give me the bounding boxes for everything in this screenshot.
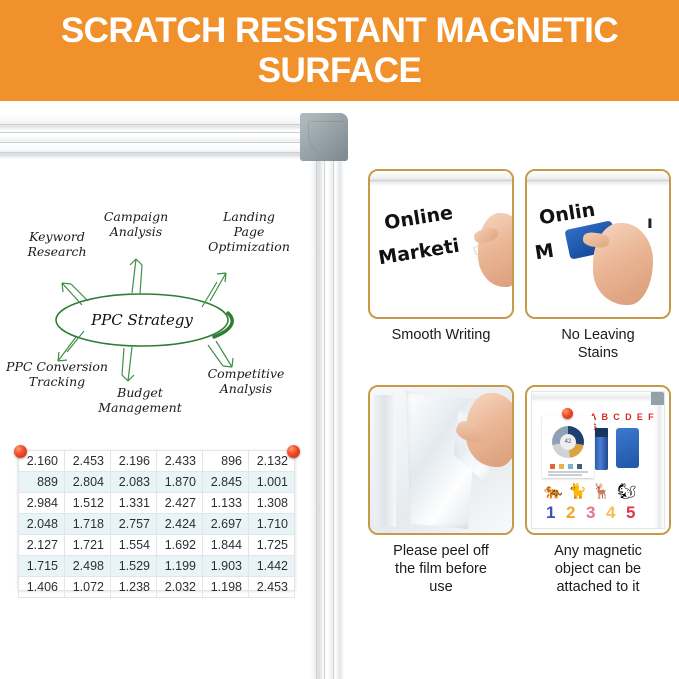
table-cell: 1.870 (157, 472, 203, 493)
mindmap-diagram: PPC Strategy Keyword Research Campaign A… (0, 201, 306, 431)
table-cell: 1.198 (203, 577, 249, 598)
panel-smooth-writing: Online Marketi Smooth Writing (368, 169, 514, 344)
magnet-pin-red[interactable] (562, 408, 573, 419)
table-row: 2.1602.4532.1962.4338962.132 (19, 451, 295, 472)
table-row: 1.7152.4981.5291.1991.9031.442 (19, 556, 295, 577)
animal-magnet-deer[interactable]: 🦌 (592, 484, 611, 499)
handwriting-residual-line2: M (533, 240, 555, 265)
table-row: 2.0481.7182.7572.4242.6971.710 (19, 514, 295, 535)
mindmap-branch-keyword-research: Keyword Research (12, 229, 102, 259)
donut-center-value: 42 (560, 434, 576, 450)
mindmap-branch-landing-page-optimization: Landing Page Optimization (196, 209, 302, 254)
eraser-magnet[interactable] (616, 428, 639, 468)
caption-peel-film: Please peel off the film before use (368, 542, 514, 596)
number-magnet-3[interactable]: 3 (586, 504, 595, 521)
table-cell: 1.692 (157, 535, 203, 556)
smooth-writing-image: Online Marketi (368, 169, 514, 319)
panel-board-frame (527, 171, 669, 186)
whiteboard-photo: PPC Strategy Keyword Research Campaign A… (0, 101, 362, 679)
table-cell: 2.196 (111, 451, 157, 472)
table-cell: 1.199 (157, 556, 203, 577)
feature-panel-grid: Online Marketi Smooth Writing Onlin M ı … (368, 101, 679, 679)
table-cell: 1.072 (65, 577, 111, 598)
panel-peel-film: Please peel off the film before use (368, 385, 514, 596)
table-cell: 1.710 (249, 514, 295, 535)
table-cell: 2.032 (157, 577, 203, 598)
caption-magnetic: Any magnetic object can be attached to i… (525, 542, 671, 596)
handwriting-line1: Online (383, 202, 455, 235)
caption-no-leaving-stains: No Leaving Stains (525, 326, 671, 362)
no-stains-image: Onlin M ı (525, 169, 671, 319)
table-cell: 2.048 (19, 514, 65, 535)
data-table-magnet-sheet: 2.1602.4532.1962.4338962.1328892.8042.08… (18, 450, 295, 590)
table-row: 1.4061.0721.2382.0321.1982.453 (19, 577, 295, 598)
table-cell: 2.498 (65, 556, 111, 577)
table-cell: 2.427 (157, 493, 203, 514)
table-cell: 2.845 (203, 472, 249, 493)
table-cell: 1.001 (249, 472, 295, 493)
table-cell: 2.083 (111, 472, 157, 493)
table-row: 2.9841.5121.3312.4271.1331.308 (19, 493, 295, 514)
mindmap-branch-ppc-conversion-tracking: PPC Conversion Tracking (0, 359, 120, 389)
table-cell: 1.718 (65, 514, 111, 535)
corner-cap-highlight (300, 113, 348, 161)
mindmap-center-node: PPC Strategy (56, 294, 228, 346)
table-cell: 2.127 (19, 535, 65, 556)
panel-magnetic: A B C D E F G 42 � (525, 385, 671, 596)
mindmap-branch-campaign-analysis: Campaign Analysis (90, 209, 182, 239)
chart-poster-magnet[interactable]: 42 (542, 416, 594, 478)
magnet-pin-top-left[interactable] (14, 445, 27, 458)
animal-magnet-cat[interactable]: 🐈 (568, 484, 587, 499)
magnet-pin-top-right[interactable] (287, 445, 300, 458)
product-feature-image: SCRATCH RESISTANT MAGNETIC SURFACE (0, 0, 679, 679)
number-magnet-4[interactable]: 4 (606, 504, 615, 521)
table-cell: 2.804 (65, 472, 111, 493)
table-cell: 1.554 (111, 535, 157, 556)
panel-board-frame (370, 171, 512, 186)
table-cell: 1.331 (111, 493, 157, 514)
table-cell: 1.715 (19, 556, 65, 577)
banner-title-line2: SURFACE (258, 51, 422, 91)
table-cell: 1.725 (249, 535, 295, 556)
table-cell: 2.984 (19, 493, 65, 514)
banner-title-line1: SCRATCH RESISTANT MAGNETIC (61, 11, 618, 51)
table-cell: 1.512 (65, 493, 111, 514)
panel-no-leaving-stains: Onlin M ı No Leaving Stains (525, 169, 671, 362)
animal-magnet-squirrel[interactable]: 🐿 (617, 484, 636, 499)
handwriting-line2: Marketi (377, 235, 461, 270)
mini-board-top-frame (532, 392, 664, 402)
animal-magnet-tiger[interactable]: 🐅 (544, 484, 563, 499)
number-magnet-5[interactable]: 5 (626, 504, 635, 521)
table-cell: 1.442 (249, 556, 295, 577)
table-cell: 1.406 (19, 577, 65, 598)
board-edge (374, 395, 396, 527)
table-cell: 2.424 (157, 514, 203, 535)
table-cell: 1.238 (111, 577, 157, 598)
data-table-body: 2.1602.4532.1962.4338962.1328892.8042.08… (19, 451, 295, 598)
whiteboard-top-frame (0, 115, 316, 159)
caption-smooth-writing: Smooth Writing (368, 326, 514, 344)
marker-cap (595, 428, 608, 437)
table-cell: 1.308 (249, 493, 295, 514)
mindmap-branch-competitive-analysis: Competitive Analysis (196, 366, 296, 396)
table-cell: 2.433 (157, 451, 203, 472)
mini-corner-cap (651, 392, 664, 405)
table-cell: 1.721 (65, 535, 111, 556)
table-cell: 1.133 (203, 493, 249, 514)
number-magnet-2[interactable]: 2 (566, 504, 575, 521)
table-cell: 1.529 (111, 556, 157, 577)
hand-writing (478, 213, 514, 287)
table-row: 2.1271.7211.5541.6921.8441.725 (19, 535, 295, 556)
mini-whiteboard: A B C D E F G 42 � (531, 391, 665, 529)
table-row: 8892.8042.0831.8702.8451.001 (19, 472, 295, 493)
table-cell: 896 (203, 451, 249, 472)
number-magnet-1[interactable]: 1 (546, 504, 555, 521)
table-cell: 1.844 (203, 535, 249, 556)
handwriting-fragment: ı (647, 213, 653, 233)
table-cell: 2.453 (249, 577, 295, 598)
table-cell: 2.697 (203, 514, 249, 535)
peel-film-image (368, 385, 514, 535)
mindmap-center-label: PPC Strategy (56, 294, 228, 346)
table-cell: 889 (19, 472, 65, 493)
whiteboard-right-frame (310, 153, 344, 679)
data-table: 2.1602.4532.1962.4338962.1328892.8042.08… (18, 450, 295, 598)
mindmap-branch-budget-management: Budget Management (84, 385, 196, 415)
magnetic-objects-image: A B C D E F G 42 � (525, 385, 671, 535)
table-cell: 1.903 (203, 556, 249, 577)
table-cell: 2.757 (111, 514, 157, 535)
table-cell: 2.453 (65, 451, 111, 472)
header-banner: SCRATCH RESISTANT MAGNETIC SURFACE (0, 0, 679, 101)
